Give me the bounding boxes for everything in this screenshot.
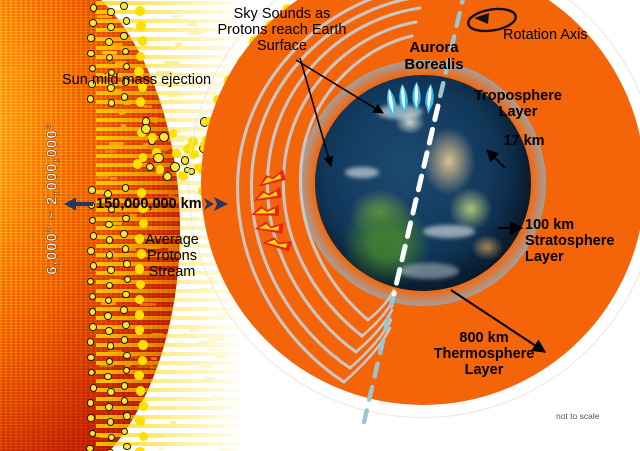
troposphere-altitude-label: 17 km	[489, 133, 559, 149]
stratosphere-layer-label: 100 kmStratosphere Layer	[525, 217, 637, 266]
average-protons-stream-label: Average Protons Stream	[126, 232, 218, 281]
thermosphere-altitude-label: 800 km	[459, 330, 508, 346]
not-to-scale-note: not to scale	[556, 412, 599, 422]
troposphere-layer-label: Troposphere Layer	[462, 88, 574, 120]
thermosphere-name-label: Thermosphere Layer	[434, 346, 535, 378]
sky-sounds-label: Sky Sounds as Protons reach Earth Surfac…	[182, 6, 382, 55]
stratosphere-name-label: Stratosphere Layer	[525, 233, 614, 265]
thermosphere-layer-label: 800 kmThermosphere Layer	[419, 330, 549, 379]
rotation-axis-label: Rotation Axis	[503, 27, 588, 43]
diagram-canvas: 6,000° ~ 2,000,000°	[0, 0, 640, 451]
arrow-left-icon	[64, 194, 94, 214]
distance-label: 150,000,000 km	[96, 196, 202, 212]
aurora-borealis-label: Aurora Borealis	[390, 40, 478, 74]
stratosphere-altitude-label: 100 km	[525, 217, 574, 233]
sun-ejection-label: Sun mild mass ejection	[62, 72, 211, 88]
arrow-right-icon	[204, 194, 228, 214]
